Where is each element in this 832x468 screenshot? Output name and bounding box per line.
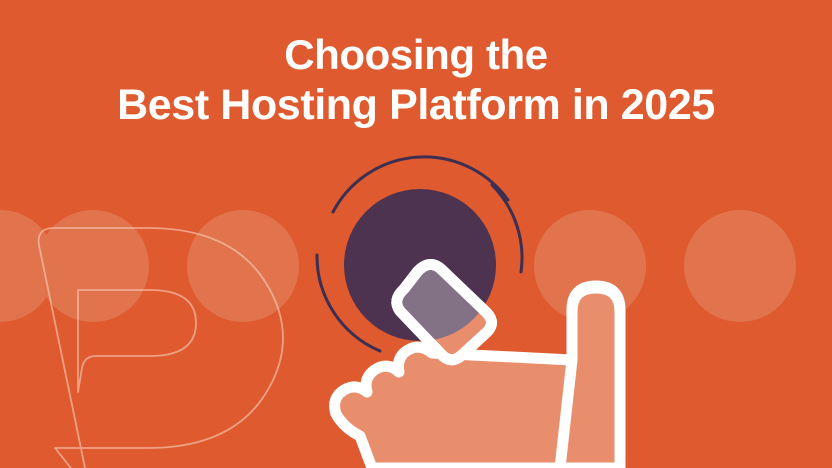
promo-banner: Choosing the Best Hosting Platform in 20… (0, 0, 832, 468)
tap-illustration-layer (0, 0, 832, 468)
thumb-shape (560, 288, 620, 468)
